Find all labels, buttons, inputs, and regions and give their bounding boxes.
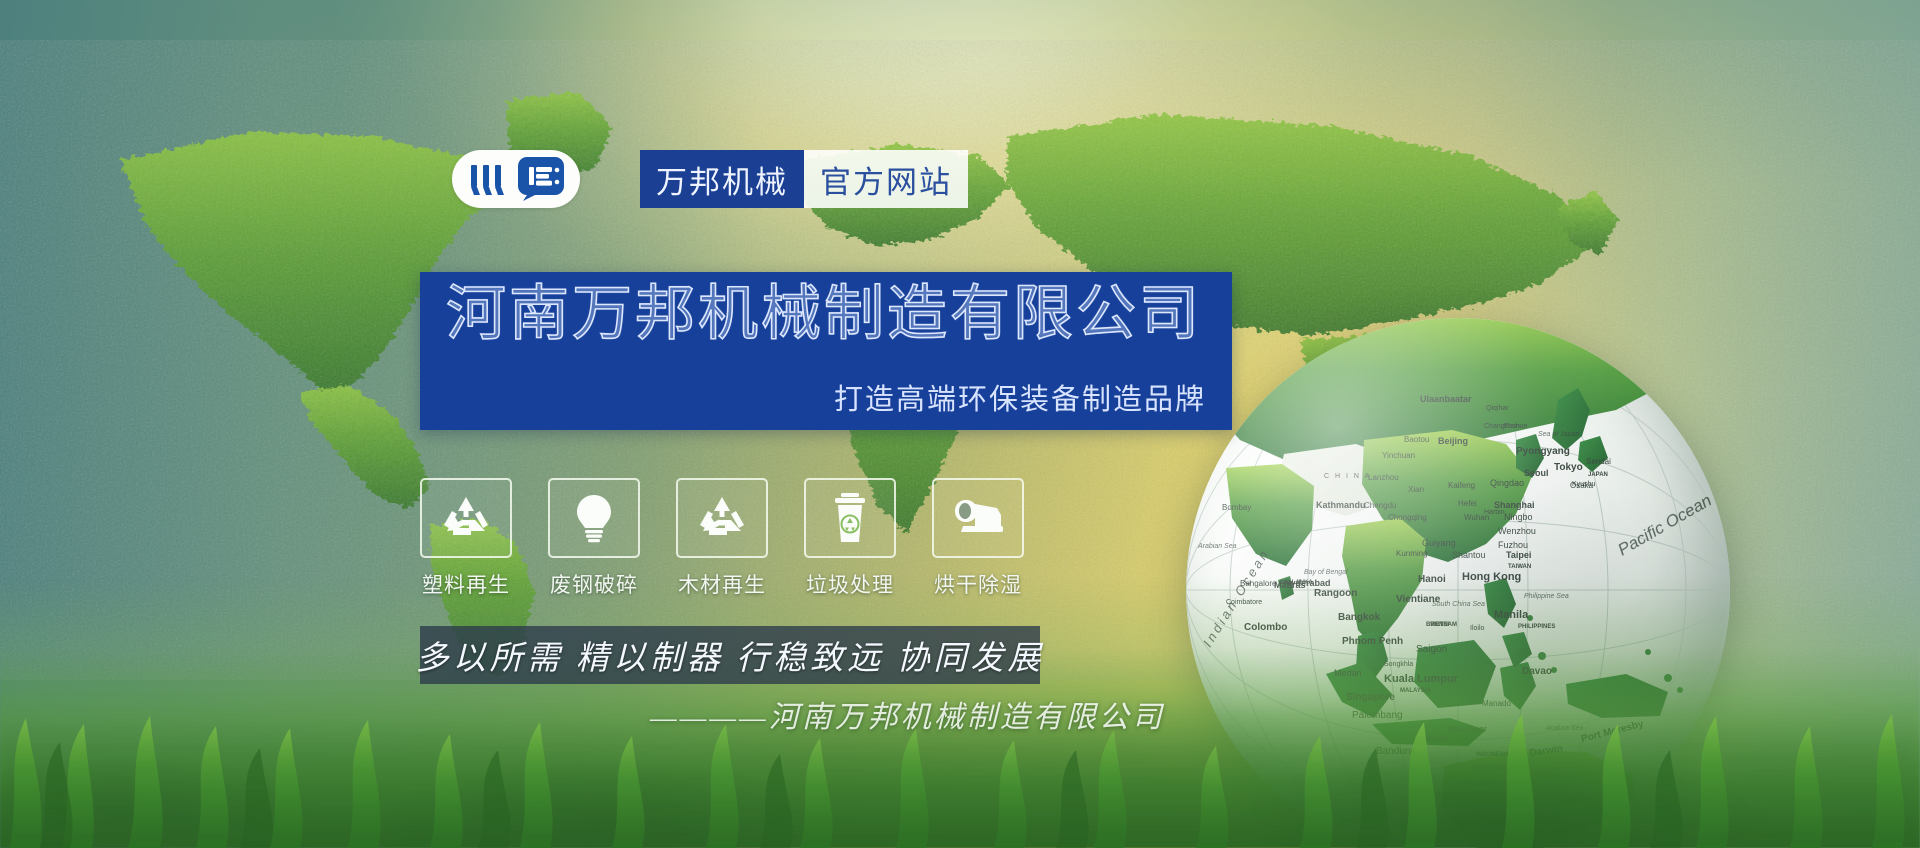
feature-icon-box xyxy=(548,478,640,558)
logo-w-icon xyxy=(468,159,512,199)
feature-item-drying-dehumidify[interactable]: 烘干除湿 xyxy=(932,478,1024,599)
slogan-signature: ————河南万邦机械制造有限公司 xyxy=(650,692,1165,736)
svg-text:Harbin: Harbin xyxy=(1484,509,1505,516)
svg-text:Bombay: Bombay xyxy=(1222,503,1251,512)
feature-label: 木材再生 xyxy=(678,569,766,599)
svg-text:Pyongyang: Pyongyang xyxy=(1516,446,1570,457)
svg-text:Kathmandu: Kathmandu xyxy=(1316,500,1366,510)
slogan-text: 多以所需 精以制器 行稳致远 协同发展 xyxy=(416,631,1045,679)
lightbulb-icon xyxy=(572,493,616,543)
nav-site-label[interactable]: 官方网站 xyxy=(804,150,968,208)
feature-label: 废钢破碎 xyxy=(550,569,638,599)
svg-text:TAIWAN: TAIWAN xyxy=(1508,564,1531,570)
svg-text:Shantou: Shantou xyxy=(1452,550,1486,560)
svg-text:Chongqing: Chongqing xyxy=(1388,513,1427,522)
svg-text:Ulaanbaatar: Ulaanbaatar xyxy=(1420,394,1472,404)
svg-text:Fuzhou: Fuzhou xyxy=(1498,540,1528,550)
hero-banner: Ulaanbaatar Beijing Baotou Yinchuan Lanz… xyxy=(0,0,1920,848)
feature-item-waste-treatment[interactable]: 垃圾处理 xyxy=(804,478,896,599)
svg-text:Hefei: Hefei xyxy=(1458,499,1477,508)
feature-icon-box xyxy=(420,478,512,558)
svg-text:Sendai: Sendai xyxy=(1586,457,1611,466)
feature-icon-box xyxy=(932,478,1024,558)
svg-text:Baotou: Baotou xyxy=(1404,435,1429,444)
svg-text:Sea of Japan: Sea of Japan xyxy=(1538,431,1579,438)
svg-text:Lanzhou: Lanzhou xyxy=(1368,473,1399,482)
recycle-icon xyxy=(441,495,491,541)
main-title-banner: 河南万邦机械制造有限公司 打造高端环保装备制造品牌 xyxy=(420,272,1232,430)
svg-text:Taipei: Taipei xyxy=(1506,550,1531,560)
feature-label: 塑料再生 xyxy=(422,569,510,599)
svg-text:JAPAN: JAPAN xyxy=(1588,472,1608,478)
svg-text:Ningbo: Ningbo xyxy=(1504,512,1533,522)
dryer-icon xyxy=(951,499,1005,537)
svg-text:Qingdao: Qingdao xyxy=(1490,478,1524,488)
svg-text:Beijing: Beijing xyxy=(1438,436,1468,446)
company-logo[interactable] xyxy=(452,150,580,208)
feature-item-plastic-recycling[interactable]: 塑料再生 xyxy=(420,478,512,599)
slogan-bar: 多以所需 精以制器 行稳致远 协同发展 xyxy=(420,626,1040,684)
logo-speech-bubble-icon xyxy=(517,156,565,202)
feature-icon-box xyxy=(676,478,768,558)
feature-icon-row: 塑料再生 废钢破碎 xyxy=(420,478,1024,599)
svg-text:Guiyang: Guiyang xyxy=(1422,538,1456,548)
svg-text:Pacific Ocean: Pacific Ocean xyxy=(1615,491,1715,560)
svg-text:Yinchuan: Yinchuan xyxy=(1382,451,1415,460)
logo-nav-row[interactable]: 万邦机械 官方网站 xyxy=(452,148,968,210)
svg-text:Wenzhou: Wenzhou xyxy=(1498,526,1536,536)
feature-icon-box xyxy=(804,478,896,558)
feature-item-steel-crushing[interactable]: 废钢破碎 xyxy=(548,478,640,599)
page-subtitle: 打造高端环保装备制造品牌 xyxy=(834,376,1206,418)
nav-brand-label[interactable]: 万邦机械 xyxy=(640,150,804,208)
trash-bin-icon xyxy=(830,492,870,544)
page-title: 河南万邦机械制造有限公司 xyxy=(446,282,1202,345)
svg-text:Kyushu: Kyushu xyxy=(1572,481,1595,488)
svg-text:Seoul: Seoul xyxy=(1524,468,1549,478)
svg-text:Kunming: Kunming xyxy=(1396,549,1428,558)
feature-label: 烘干除湿 xyxy=(934,569,1022,599)
svg-text:Qiqihar: Qiqihar xyxy=(1486,405,1509,412)
svg-text:Chengdu: Chengdu xyxy=(1364,501,1396,510)
svg-text:Tokyo: Tokyo xyxy=(1554,462,1583,473)
recycle-icon xyxy=(697,495,747,541)
svg-text:Bay of Bengal: Bay of Bengal xyxy=(1304,569,1348,576)
svg-text:Fushun: Fushun xyxy=(1504,423,1527,430)
feature-label: 垃圾处理 xyxy=(806,569,894,599)
svg-text:C H I N A: C H I N A xyxy=(1324,473,1371,480)
svg-text:Arabian Sea: Arabian Sea xyxy=(1197,543,1237,550)
feature-item-wood-recycling[interactable]: 木材再生 xyxy=(676,478,768,599)
svg-text:Kaifeng: Kaifeng xyxy=(1448,481,1475,490)
svg-text:Xian: Xian xyxy=(1408,485,1424,494)
